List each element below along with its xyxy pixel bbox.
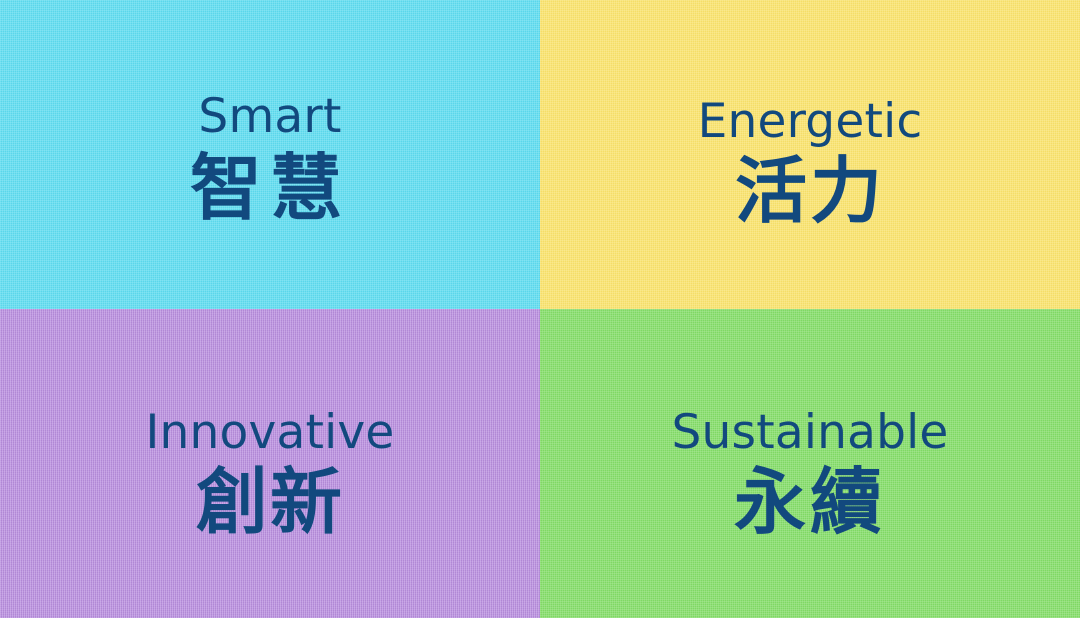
panel-innovative-label-zh: 創新: [196, 466, 344, 538]
panel-smart-label-zh: 智慧: [190, 152, 350, 224]
panel-smart-label-en: Smart: [198, 93, 341, 140]
panel-sustainable-label-zh: 永續: [734, 466, 886, 538]
panel-innovative-label-en: Innovative: [145, 409, 394, 456]
panel-energetic-textblock: Energetic 活力: [540, 0, 1080, 227]
panel-smart[interactable]: Smart 智慧: [0, 0, 540, 309]
panel-energetic-label-en: Energetic: [698, 98, 923, 145]
panel-energetic-label-zh: 活力: [735, 155, 885, 227]
panel-smart-textblock: Smart 智慧: [0, 0, 540, 224]
quadrant-grid: Smart 智慧 Energetic 活力 Innovative 創新 Sust…: [0, 0, 1080, 618]
panel-energetic[interactable]: Energetic 活力: [540, 0, 1080, 309]
brand-values-board: Smart 智慧 Energetic 活力 Innovative 創新 Sust…: [0, 0, 1080, 618]
panel-sustainable-label-en: Sustainable: [672, 409, 949, 456]
panel-innovative[interactable]: Innovative 創新: [0, 309, 540, 618]
panel-innovative-textblock: Innovative 創新: [0, 309, 540, 538]
panel-sustainable[interactable]: Sustainable 永續: [540, 309, 1080, 618]
panel-sustainable-textblock: Sustainable 永續: [540, 309, 1080, 538]
